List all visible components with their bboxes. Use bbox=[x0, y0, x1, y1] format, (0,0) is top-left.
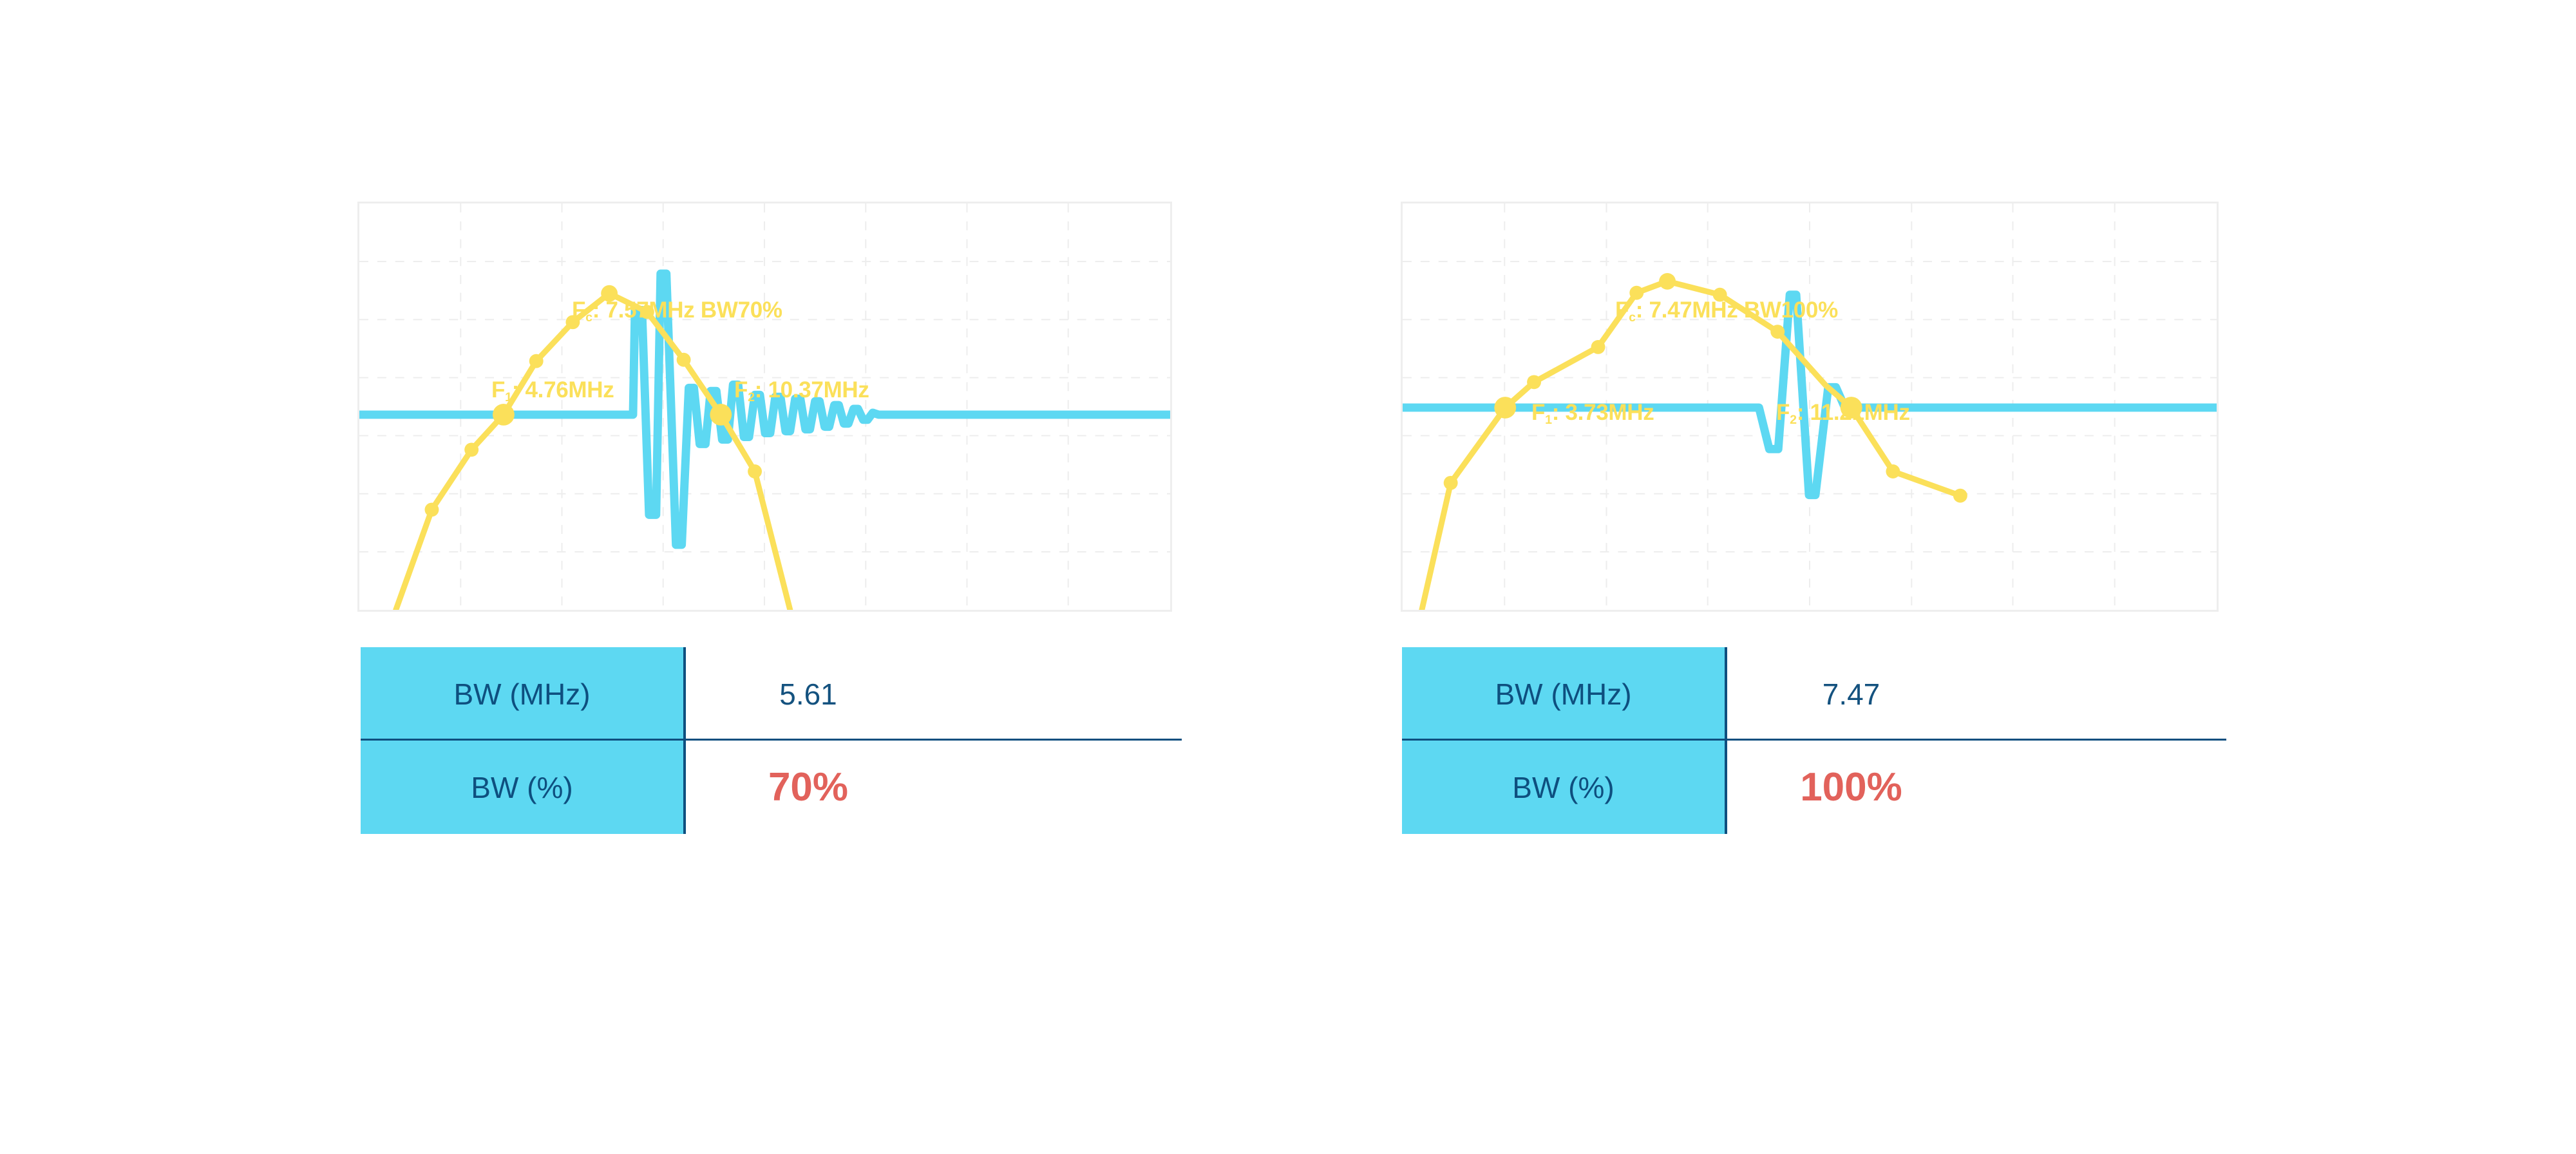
measurement-panel-left: Fc: 7.57MHz BW70% F1: 4.76MHz F2: 10.37M… bbox=[335, 0, 1198, 1154]
table-row: BW (%) 70% bbox=[361, 741, 1182, 834]
f2-prefix: F bbox=[734, 377, 748, 402]
bw-percent-value: 100% bbox=[1800, 764, 1902, 810]
table-header-bw-mhz: BW (MHz) bbox=[1402, 647, 1727, 741]
f1-prefix: F bbox=[491, 377, 505, 402]
table-row: BW (MHz) 7.47 bbox=[1402, 647, 2226, 741]
chart-right: Fc: 7.47MHz BW100% F1: 3.73MHz F2: 11.21… bbox=[1401, 202, 2219, 612]
bw-percent-value: 70% bbox=[768, 764, 848, 810]
chart-left: Fc: 7.57MHz BW70% F1: 4.76MHz F2: 10.37M… bbox=[357, 202, 1172, 612]
table-header-bw-mhz: BW (MHz) bbox=[361, 647, 686, 741]
f2-prefix: F bbox=[1776, 400, 1790, 425]
fc-subscript: c bbox=[585, 310, 592, 325]
chart-series-left bbox=[359, 203, 1170, 610]
table-cell-bw-mhz: 7.47 bbox=[1727, 647, 2226, 741]
table-cell-bw-mhz: 5.61 bbox=[686, 647, 1182, 741]
f1-subscript: 1 bbox=[505, 390, 512, 404]
f1-text: : 3.73MHz bbox=[1552, 400, 1654, 425]
fc-prefix: F bbox=[572, 298, 585, 323]
results-table-right: BW (MHz) 7.47 BW (%) 100% bbox=[1402, 647, 2226, 834]
f1-subscript: 1 bbox=[1545, 413, 1552, 427]
annotation-upper-frequency-left: F2: 10.37MHz bbox=[734, 379, 869, 404]
table-row: BW (MHz) 5.61 bbox=[361, 647, 1182, 741]
f2-text: : 10.37MHz bbox=[755, 377, 869, 402]
measurement-panel-right: Fc: 7.47MHz BW100% F1: 3.73MHz F2: 11.21… bbox=[1388, 0, 2251, 1154]
fc-prefix: F bbox=[1615, 298, 1629, 323]
bw-mhz-value: 5.61 bbox=[779, 677, 837, 712]
f1-text: : 4.76MHz bbox=[512, 377, 614, 402]
bw-mhz-value: 7.47 bbox=[1823, 677, 1880, 712]
table-header-bw-percent: BW (%) bbox=[361, 741, 686, 834]
f1-prefix: F bbox=[1531, 400, 1545, 425]
f2-subscript: 2 bbox=[748, 390, 755, 404]
table-row: BW (%) 100% bbox=[1402, 741, 2226, 834]
annotation-lower-frequency-right: F1: 3.73MHz bbox=[1531, 401, 1654, 426]
annotation-upper-frequency-right: F2: 11.21MHz bbox=[1776, 401, 1910, 426]
fc-text: : 7.47MHz BW100% bbox=[1636, 298, 1838, 323]
echo-trace-right bbox=[1403, 295, 2217, 495]
annotation-center-frequency-right: Fc: 7.47MHz BW100% bbox=[1615, 299, 1838, 324]
table-header-bw-percent: BW (%) bbox=[1402, 741, 1727, 834]
spectrum-trace-left bbox=[396, 285, 790, 610]
fc-subscript: c bbox=[1629, 310, 1636, 325]
results-table-left: BW (MHz) 5.61 BW (%) 70% bbox=[361, 647, 1182, 834]
table-cell-bw-percent: 70% bbox=[686, 741, 1182, 834]
f2-text: : 11.21MHz bbox=[1797, 400, 1910, 425]
annotation-center-frequency-left: Fc: 7.57MHz BW70% bbox=[572, 299, 782, 324]
fc-text: : 7.57MHz BW70% bbox=[592, 298, 782, 323]
figure-canvas: Fc: 7.57MHz BW70% F1: 4.76MHz F2: 10.37M… bbox=[0, 0, 2576, 1154]
f2-subscript: 2 bbox=[1790, 413, 1797, 427]
annotation-lower-frequency-left: F1: 4.76MHz bbox=[491, 379, 614, 404]
table-cell-bw-percent: 100% bbox=[1727, 741, 2226, 834]
